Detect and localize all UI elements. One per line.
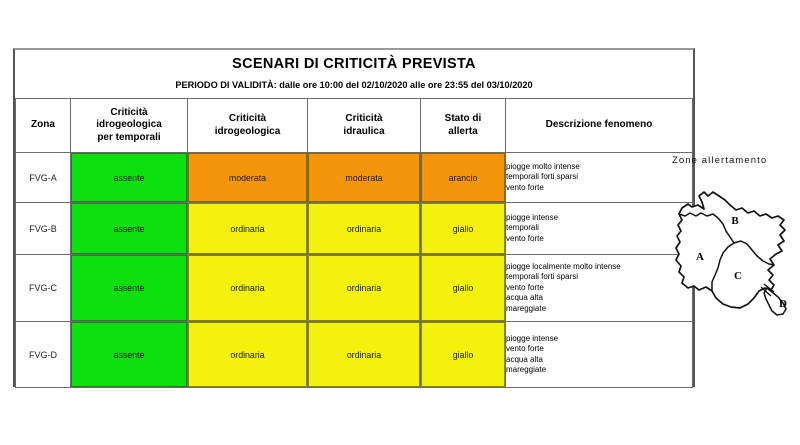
status-badge: ordinaria <box>308 322 420 387</box>
column-header-zona: Zona <box>16 99 71 153</box>
table-body: FVG-A assente moderata moderata arancio … <box>16 153 693 388</box>
cell-zona: FVG-A <box>16 153 71 203</box>
cell-criticita-idrogeologica: moderata <box>188 153 308 203</box>
cell-stato-allerta: giallo <box>421 203 506 255</box>
cell-zona: FVG-C <box>16 255 71 322</box>
column-header-criticita-idrogeologica-line-2: idrogeologica <box>188 126 307 138</box>
cell-stato-allerta: giallo <box>421 255 506 322</box>
status-badge: moderata <box>188 153 307 202</box>
bulletin-page: SCENARI DI CRITICITÀ PREVISTA PERIODO DI… <box>0 0 800 445</box>
descrizione-line: mareggiate <box>506 365 692 375</box>
cell-stato-allerta: giallo <box>421 322 506 388</box>
cell-criticita-idraulica: ordinaria <box>308 255 421 322</box>
cell-criticita-idraulica: ordinaria <box>308 322 421 388</box>
column-header-criticita-idraulica-line-1: Criticità <box>308 113 420 125</box>
cell-stato-allerta: arancio <box>421 153 506 203</box>
descrizione-line: vento forte <box>506 344 692 354</box>
status-badge: assente <box>71 153 187 202</box>
status-badge: assente <box>71 255 187 321</box>
column-header-descrizione-fenomeno: Descrizione fenomeno <box>506 99 693 153</box>
status-badge: assente <box>71 322 187 387</box>
validity-period: PERIODO DI VALIDITÀ: dalle ore 10:00 del… <box>15 80 693 90</box>
cell-criticita-idraulica: moderata <box>308 153 421 203</box>
status-badge: ordinaria <box>188 203 307 254</box>
cell-zona: FVG-B <box>16 203 71 255</box>
cell-criticita-temporali: assente <box>71 322 188 388</box>
status-badge: ordinaria <box>188 322 307 387</box>
cell-criticita-idraulica: ordinaria <box>308 203 421 255</box>
status-badge: giallo <box>421 255 505 321</box>
cell-criticita-temporali: assente <box>71 255 188 322</box>
zone-label-a: A <box>696 251 704 263</box>
status-badge: ordinaria <box>188 255 307 321</box>
column-header-zona-line-1: Zona <box>16 119 70 131</box>
table-row: FVG-A assente moderata moderata arancio … <box>16 153 693 203</box>
cell-zona: FVG-D <box>16 322 71 388</box>
cell-criticita-idrogeologica: ordinaria <box>188 322 308 388</box>
descrizione-line: piogge intense <box>506 334 692 344</box>
column-header-criticita-temporali-line-1: Criticità <box>71 107 187 119</box>
column-header-criticita-idrogeologica-line-1: Criticità <box>188 113 307 125</box>
descrizione-line: acqua alta <box>506 355 692 365</box>
column-header-criticita-temporali: Criticità idrogeologica per temporali <box>71 99 188 153</box>
cell-criticita-idrogeologica: ordinaria <box>188 255 308 322</box>
column-header-criticita-idrogeologica: Criticità idrogeologica <box>188 99 308 153</box>
cell-criticita-temporali: assente <box>71 203 188 255</box>
cell-criticita-idrogeologica: ordinaria <box>188 203 308 255</box>
table-header-row: Zona Criticità idrogeologica per tempora… <box>16 99 693 153</box>
column-header-criticita-temporali-line-2: idrogeologica <box>71 119 187 131</box>
status-badge: giallo <box>421 203 505 254</box>
status-badge: moderata <box>308 153 420 202</box>
status-badge: arancio <box>421 153 505 202</box>
zone-label-d: D <box>779 298 787 310</box>
page-title: SCENARI DI CRITICITÀ PREVISTA <box>15 56 693 72</box>
alert-zones-map-panel: Zone allertamento A B C D <box>660 152 800 332</box>
status-badge: ordinaria <box>308 203 420 254</box>
table-row: FVG-B assente ordinaria ordinaria giallo <box>16 203 693 255</box>
status-badge: ordinaria <box>308 255 420 321</box>
zone-label-c: C <box>734 270 742 282</box>
column-header-descrizione-fenomeno-line-1: Descrizione fenomeno <box>506 119 692 131</box>
criticality-table-container: Zona Criticità idrogeologica per tempora… <box>13 98 695 387</box>
column-header-criticita-idraulica-line-2: idraulica <box>308 126 420 138</box>
table-header: Zona Criticità idrogeologica per tempora… <box>16 99 693 153</box>
column-header-criticita-idraulica: Criticità idraulica <box>308 99 421 153</box>
column-header-stato-allerta-line-1: Stato di <box>421 113 505 125</box>
column-header-stato-allerta-line-2: allerta <box>421 126 505 138</box>
map-caption: Zone allertamento <box>672 155 767 166</box>
table-row: FVG-D assente ordinaria ordinaria giallo <box>16 322 693 388</box>
title-block: SCENARI DI CRITICITÀ PREVISTA PERIODO DI… <box>13 48 695 98</box>
status-badge: assente <box>71 203 187 254</box>
column-header-criticita-temporali-line-3: per temporali <box>71 132 187 144</box>
fvg-region-map: A B C D <box>668 178 794 326</box>
table-row: FVG-C assente ordinaria ordinaria giallo <box>16 255 693 322</box>
zone-label-b: B <box>731 215 739 227</box>
criticality-table: Zona Criticità idrogeologica per tempora… <box>15 98 693 388</box>
cell-criticita-temporali: assente <box>71 153 188 203</box>
column-header-stato-allerta: Stato di allerta <box>421 99 506 153</box>
status-badge: giallo <box>421 322 505 387</box>
